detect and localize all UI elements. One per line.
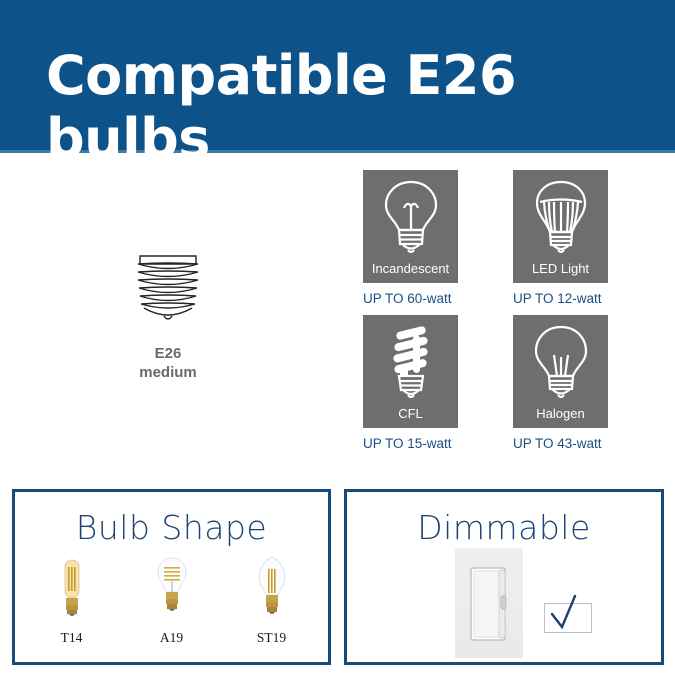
- cfl-tile[interactable]: CFL: [363, 315, 458, 428]
- bulb-shape-row: T14 A19: [15, 555, 328, 646]
- bulb-type-incandescent[interactable]: Incandescent UP TO 60-watt: [363, 170, 513, 315]
- dimmable-content: [347, 548, 661, 660]
- e26-screw-base-icon: [88, 250, 248, 330]
- cfl-watt: UP TO 15-watt: [363, 436, 513, 451]
- bulb-shape-title: Bulb Shape: [15, 508, 328, 547]
- shape-item-st19[interactable]: ST19: [244, 555, 300, 646]
- t14-tubular-bulb-icon: [55, 608, 89, 625]
- bulb-type-led[interactable]: LED Light UP TO 12-watt: [513, 170, 663, 315]
- main-content: E26 medium: [0, 155, 675, 480]
- a19-standard-bulb-icon: [155, 608, 189, 625]
- t14-caption: T14: [44, 630, 100, 646]
- shape-item-a19[interactable]: A19: [144, 555, 200, 646]
- bulb-type-cfl[interactable]: CFL UP TO 15-watt: [363, 315, 513, 460]
- led-label: LED Light: [513, 261, 608, 276]
- cfl-label: CFL: [363, 406, 458, 421]
- e26-base-label: E26 medium: [88, 344, 248, 382]
- halogen-label: Halogen: [513, 406, 608, 421]
- page-title: Compatible E26 bulbs: [46, 44, 675, 170]
- bulb-type-halogen[interactable]: Halogen UP TO 43-watt: [513, 315, 663, 460]
- checkmark-icon: [544, 588, 590, 639]
- halogen-watt: UP TO 43-watt: [513, 436, 663, 451]
- dimmable-panel: Dimmable: [344, 489, 664, 665]
- e26-base-block: E26 medium: [88, 250, 248, 382]
- bulb-shape-panel: Bulb Shape T14: [12, 489, 331, 665]
- halogen-tile[interactable]: Halogen: [513, 315, 608, 428]
- a19-caption: A19: [144, 630, 200, 646]
- shape-item-t14[interactable]: T14: [44, 555, 100, 646]
- dimmer-switch-icon: [455, 548, 523, 658]
- incandescent-tile[interactable]: Incandescent: [363, 170, 458, 283]
- halogen-bulb-icon: [530, 323, 592, 410]
- st19-edison-bulb-icon: [255, 608, 289, 625]
- incandescent-label: Incandescent: [363, 261, 458, 276]
- led-bulb-icon: [530, 178, 592, 265]
- dimmable-title: Dimmable: [347, 508, 661, 547]
- st19-caption: ST19: [244, 630, 300, 646]
- led-tile[interactable]: LED Light: [513, 170, 608, 283]
- incandescent-bulb-icon: [380, 178, 442, 265]
- cfl-spiral-bulb-icon: [380, 323, 442, 410]
- bulb-type-grid: Incandescent UP TO 60-watt: [363, 170, 663, 460]
- led-watt: UP TO 12-watt: [513, 291, 663, 306]
- incandescent-watt: UP TO 60-watt: [363, 291, 513, 306]
